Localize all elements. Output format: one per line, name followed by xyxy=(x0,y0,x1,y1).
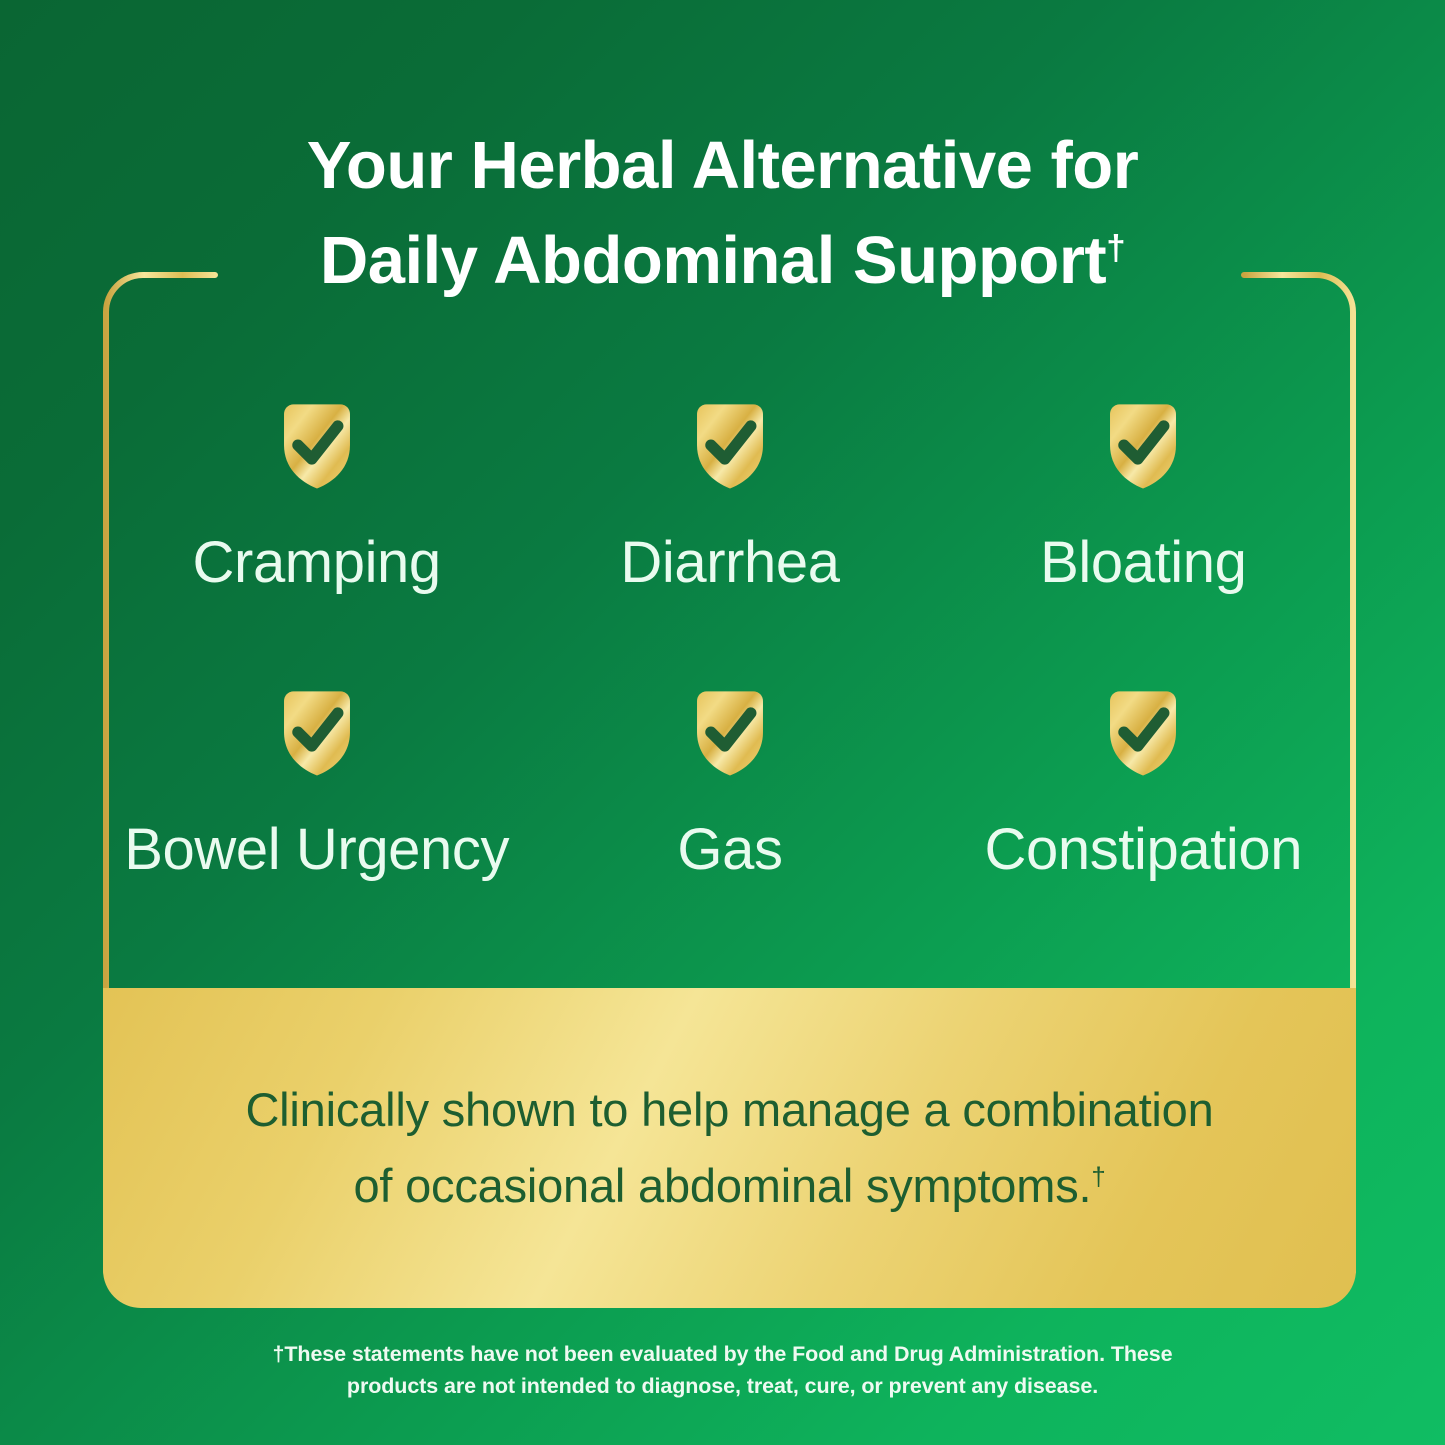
symptom-item-bowel-urgency: Bowel Urgency xyxy=(110,687,523,887)
symptom-item-cramping: Cramping xyxy=(110,400,523,687)
symptom-row-2: Bowel Urgency Gas Cons xyxy=(110,687,1350,887)
shield-check-icon xyxy=(684,400,776,492)
symptom-label: Diarrhea xyxy=(620,534,839,592)
shield-check-icon xyxy=(684,687,776,779)
claim-footnote-marker: † xyxy=(1091,1163,1105,1191)
shield-check-icon xyxy=(271,400,363,492)
disclaimer-line-2: products are not intended to diagnose, t… xyxy=(347,1374,1098,1398)
shield-check-icon xyxy=(271,687,363,779)
headline-line-1: Your Herbal Alternative for xyxy=(307,128,1139,203)
shield-check-icon xyxy=(1097,400,1189,492)
symptom-item-diarrhea: Diarrhea xyxy=(523,400,936,687)
symptom-item-bloating: Bloating xyxy=(937,400,1350,687)
symptom-label: Constipation xyxy=(985,821,1303,879)
page-title: Your Herbal Alternative for Daily Abdomi… xyxy=(0,118,1445,308)
fda-disclaimer: †These statements have not been evaluate… xyxy=(0,1339,1445,1403)
clinical-claim-text: Clinically shown to help manage a combin… xyxy=(187,1072,1271,1224)
headline-footnote-marker: † xyxy=(1106,229,1125,268)
symptom-label: Gas xyxy=(677,821,782,879)
symptom-item-gas: Gas xyxy=(523,687,936,887)
symptom-label: Cramping xyxy=(193,534,441,592)
advertisement-root: Your Herbal Alternative for Daily Abdomi… xyxy=(0,0,1445,1445)
claim-line-2: of occasional abdominal symptoms. xyxy=(353,1159,1091,1212)
disclaimer-line-1: †These statements have not been evaluate… xyxy=(273,1342,1173,1366)
clinical-claim-panel: Clinically shown to help manage a combin… xyxy=(103,988,1356,1308)
symptom-label: Bloating xyxy=(1040,534,1246,592)
shield-check-icon xyxy=(1097,687,1189,779)
headline-line-2: Daily Abdominal Support xyxy=(320,223,1106,298)
symptom-label: Bowel Urgency xyxy=(124,821,509,879)
symptom-grid: Cramping Diarrhea Bloa xyxy=(110,400,1350,887)
symptom-row-1: Cramping Diarrhea Bloa xyxy=(110,400,1350,687)
claim-line-1: Clinically shown to help manage a combin… xyxy=(245,1083,1213,1136)
symptom-item-constipation: Constipation xyxy=(937,687,1350,887)
